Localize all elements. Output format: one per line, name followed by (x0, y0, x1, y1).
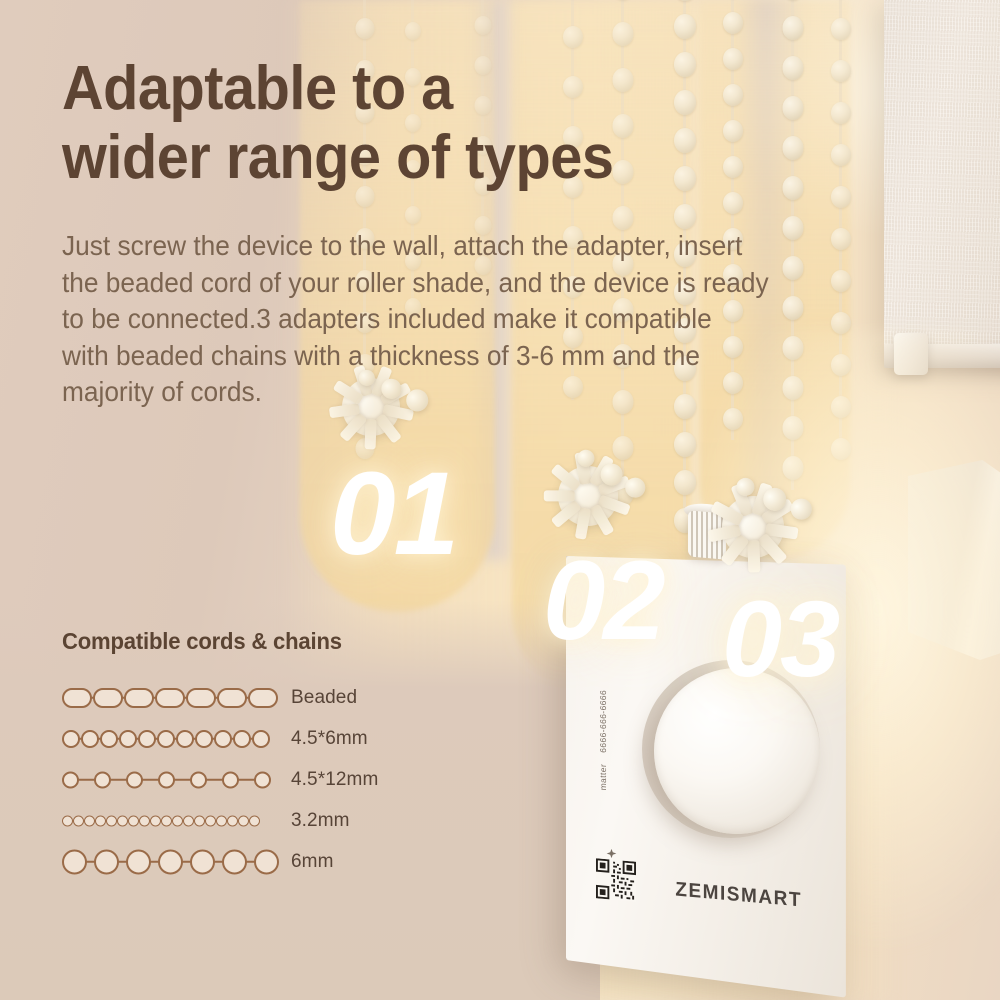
compat-row: 4.5*12mm (62, 759, 482, 800)
step-number-01: 01 (330, 455, 457, 573)
chain-link (126, 849, 151, 874)
qr-code-icon (596, 858, 636, 901)
chain-diagram-beaded (62, 685, 277, 711)
body-paragraph: Just screw the device to the wall, attac… (62, 228, 902, 411)
chain-link (84, 815, 95, 826)
chain-bead (783, 16, 804, 40)
chain-link (248, 688, 278, 708)
chain-connector (110, 778, 127, 781)
compat-section-title: Compatible cords & chains (62, 628, 465, 655)
chain-bead (783, 136, 804, 160)
product-marketing-image: matter 6666-666-6666 ZEMISMART 01 02 03 … (0, 0, 1000, 1000)
adapter-cog-tooth (339, 412, 367, 442)
chain-bead (356, 18, 375, 39)
chain-link (233, 730, 251, 748)
chain-connector (78, 778, 95, 781)
chain-bead (613, 206, 634, 230)
chain-link (138, 730, 156, 748)
body-line-5: majority of cords. (62, 374, 902, 411)
step-number-02: 02 (543, 545, 664, 657)
chain-bead (723, 48, 743, 70)
chain-link (119, 730, 137, 748)
chain-bead (723, 12, 743, 34)
chain-bead (674, 204, 696, 229)
chain-link (222, 771, 239, 788)
chain-bead (783, 176, 804, 200)
chain-link (194, 815, 205, 826)
chain-link (139, 815, 150, 826)
body-line-4: with beaded chains with a thickness of 3… (62, 338, 902, 375)
body-line-1: Just screw the device to the wall, attac… (62, 228, 902, 265)
chain-link (190, 771, 207, 788)
chain-bead (405, 206, 421, 224)
chain-link (217, 688, 247, 708)
chain-link (176, 730, 194, 748)
adapter-cog-tooth (364, 419, 376, 450)
body-line-3: to be connected.3 adapters included make… (62, 301, 902, 338)
chain-link (62, 849, 87, 874)
chain-link (128, 815, 139, 826)
chain-connector (142, 778, 159, 781)
chain-link (172, 815, 183, 826)
compat-row: 4.5*6mm (62, 718, 482, 759)
chain-connector (206, 778, 223, 781)
chain-link (100, 730, 118, 748)
chain-diagram-4-5-12mm (62, 767, 277, 793)
compatible-cords-section: Compatible cords & chains Beaded4.5*6mm4… (62, 628, 482, 882)
chain-link (254, 771, 271, 788)
chain-link (190, 849, 215, 874)
chain-link (157, 730, 175, 748)
compat-label: 4.5*6mm (291, 728, 368, 750)
chain-link (62, 771, 79, 788)
compat-label: 3.2mm (291, 810, 350, 832)
headline-line-2: wider range of types (62, 123, 713, 192)
compat-row-list: Beaded4.5*6mm4.5*12mm3.2mm6mm (62, 677, 482, 882)
chain-link (214, 730, 232, 748)
chain-bead (831, 186, 851, 208)
chain-link (106, 815, 117, 826)
chain-link (254, 849, 279, 874)
chain-link (93, 688, 123, 708)
chain-link (252, 730, 270, 748)
chain-link (195, 730, 213, 748)
chain-diagram-3-2mm (62, 808, 277, 834)
chain-diagram-6mm (62, 849, 277, 875)
chain-link (158, 771, 175, 788)
device-serial-text: matter 6666-666-6666 (598, 690, 608, 791)
adapter-cog-tooth (544, 490, 575, 501)
chain-link (117, 815, 128, 826)
chain-link (94, 849, 119, 874)
cert-label: matter (598, 764, 608, 791)
chain-link (161, 815, 172, 826)
chain-link (95, 815, 106, 826)
chain-link (62, 688, 92, 708)
chain-bead (475, 16, 492, 35)
chain-bead (783, 96, 804, 120)
chain-link (158, 849, 183, 874)
chain-bead (674, 14, 696, 39)
chain-link (183, 815, 194, 826)
compat-label: 4.5*12mm (291, 769, 378, 791)
chain-link (126, 771, 143, 788)
chain-bead (831, 102, 851, 124)
chain-link (73, 815, 84, 826)
chain-diagram-4-5-6mm (62, 726, 277, 752)
adapter-bead (624, 476, 647, 499)
chain-connector (174, 778, 191, 781)
page-title: Adaptable to a wider range of types (62, 54, 713, 193)
chain-bead (831, 144, 851, 166)
chain-bead (831, 18, 851, 40)
chain-link (249, 815, 260, 826)
chain-link (94, 771, 111, 788)
chain-link (62, 815, 73, 826)
chain-bead (613, 22, 634, 46)
chain-link (81, 730, 99, 748)
chain-link (124, 688, 154, 708)
chain-connector (238, 778, 255, 781)
chain-link (227, 815, 238, 826)
adapter-cog-tooth (757, 533, 787, 565)
chain-bead (723, 120, 743, 142)
chain-bead (723, 192, 743, 214)
headline-line-1: Adaptable to a (62, 54, 713, 123)
chain-bead (563, 26, 583, 48)
compat-label: Beaded (291, 687, 357, 709)
chain-link (155, 688, 185, 708)
compat-row: 3.2mm (62, 800, 482, 841)
chain-bead (723, 84, 743, 106)
chain-link (205, 815, 216, 826)
compat-row: Beaded (62, 677, 482, 718)
adapter-cog-tooth (748, 540, 761, 573)
chain-bead (405, 22, 421, 40)
chain-bead (831, 60, 851, 82)
chain-link (186, 688, 216, 708)
chain-bead (783, 56, 804, 80)
chain-link (150, 815, 161, 826)
chain-link (222, 849, 247, 874)
body-line-2: the beaded cord of your roller shade, an… (62, 265, 902, 302)
adapter-cog-tooth (575, 507, 592, 540)
chain-link (216, 815, 227, 826)
matter-logo-icon (606, 848, 617, 859)
chain-link (62, 730, 80, 748)
chain-bead (674, 0, 696, 1)
chain-link (238, 815, 249, 826)
serial-number: 6666-666-6666 (598, 690, 608, 754)
compat-label: 6mm (291, 851, 334, 873)
step-number-03: 03 (722, 585, 838, 693)
compat-row: 6mm (62, 841, 482, 882)
chain-bead (723, 156, 743, 178)
